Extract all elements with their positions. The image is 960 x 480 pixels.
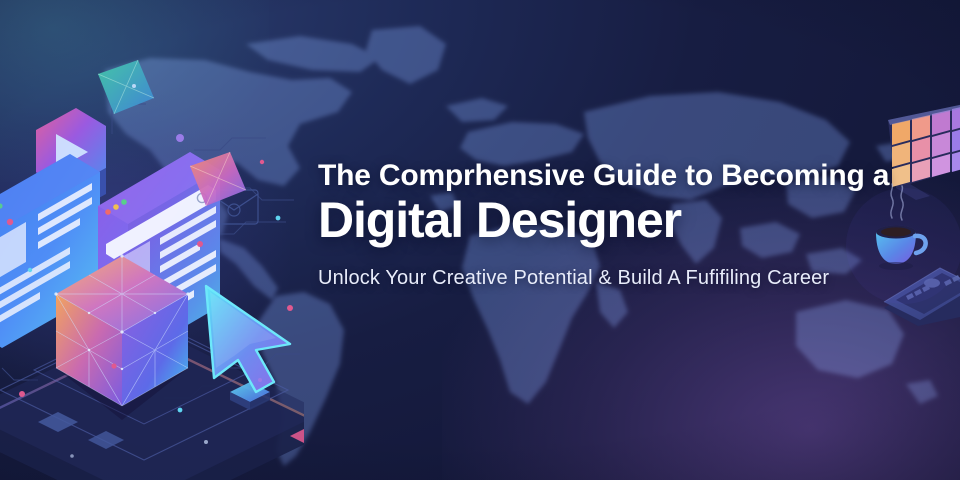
color-swatch-palette [888,104,960,200]
headline-line-1: The Comprhensive Guide to Becoming a [318,160,898,192]
headline-line-2: Digital Designer [318,194,898,247]
isometric-design-workspace-illustration [0,38,304,480]
teal-diamond [98,60,154,114]
subheadline: Unlock Your Creative Potential & Build A… [318,267,898,290]
hero-copy-block: The Comprhensive Guide to Becoming a Dig… [318,160,898,290]
hero-banner: The Comprhensive Guide to Becoming a Dig… [0,0,960,480]
